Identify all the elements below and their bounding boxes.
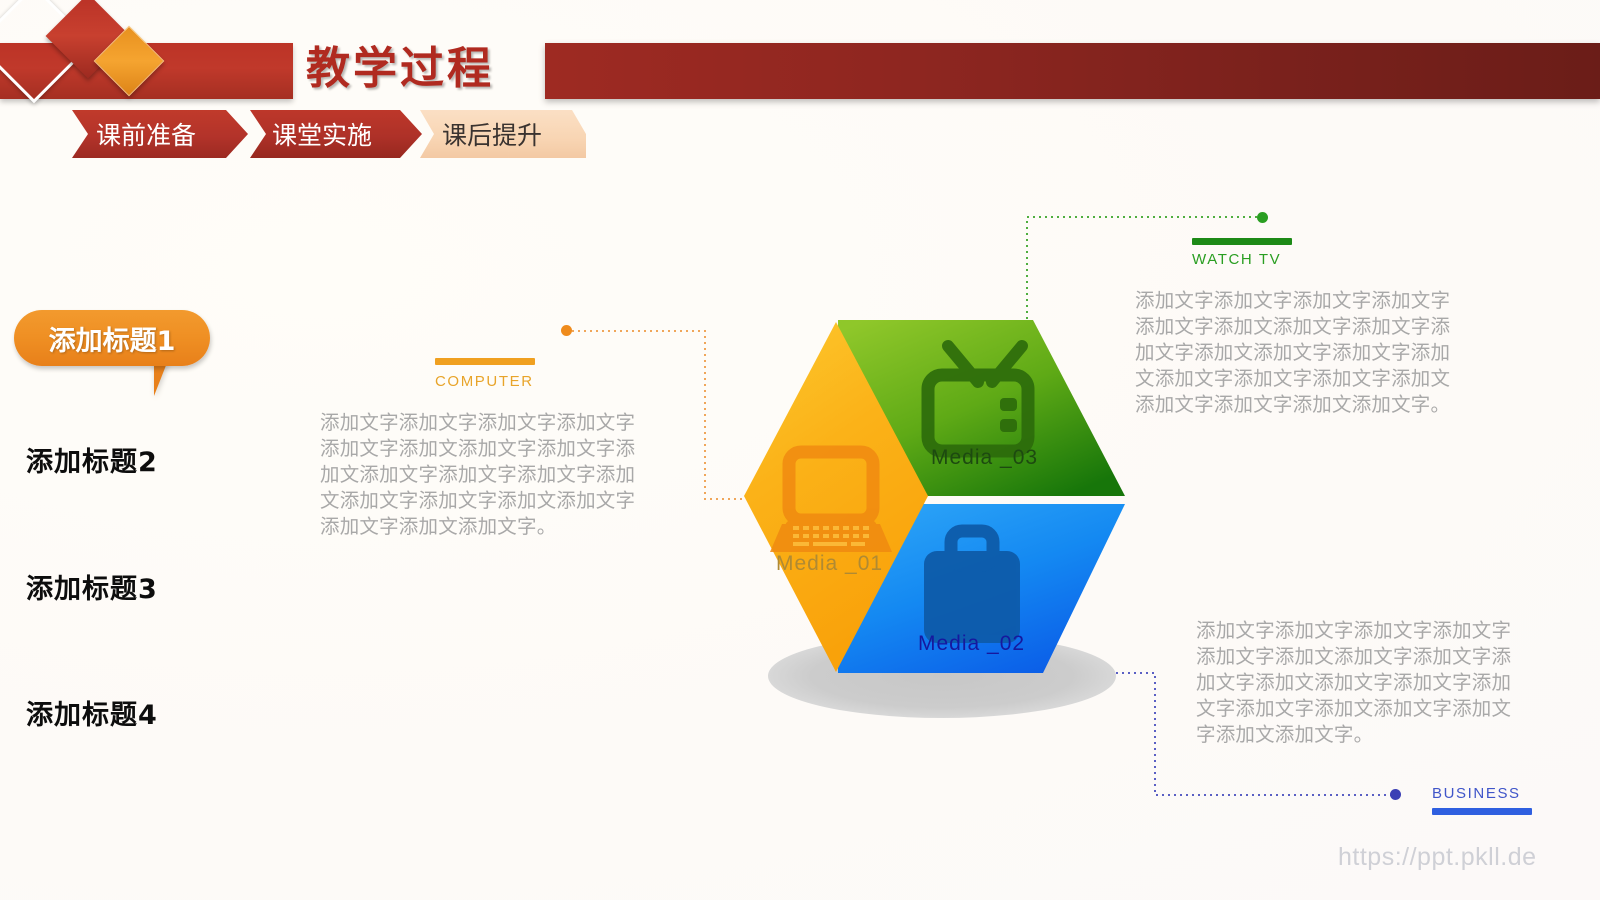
slide-canvas: 教学过程 课前准备 课堂实施 课后提升 添加标题1 添加标题2 添加标题3 添加… (0, 0, 1600, 900)
tab-post-class[interactable]: 课后提升 (420, 110, 586, 158)
page-title: 教学过程 (306, 38, 494, 100)
tab-pre-class-label: 课前准备 (96, 116, 196, 152)
connector-business (1050, 673, 1392, 795)
tab-post-class-label: 课后提升 (442, 116, 542, 152)
cube-label-media-01: Media _01 (776, 552, 883, 576)
connector-dot-business (1390, 789, 1401, 800)
sidebar-item-title1-label: 添加标题1 (49, 319, 176, 358)
tab-in-class[interactable]: 课堂实施 (250, 110, 422, 158)
connector-dot-watch-tv (1257, 212, 1268, 223)
connector-watch-tv (1027, 217, 1257, 475)
sidebar-item-title1[interactable]: 添加标题1 (14, 310, 210, 366)
tab-in-class-label: 课堂实施 (272, 116, 372, 152)
cube-label-media-03: Media _03 (931, 446, 1038, 470)
cube-label-media-02: Media _02 (918, 632, 1025, 656)
tab-pre-class[interactable]: 课前准备 (72, 110, 248, 158)
connector-computer (572, 331, 760, 499)
connector-dot-computer (561, 325, 572, 336)
